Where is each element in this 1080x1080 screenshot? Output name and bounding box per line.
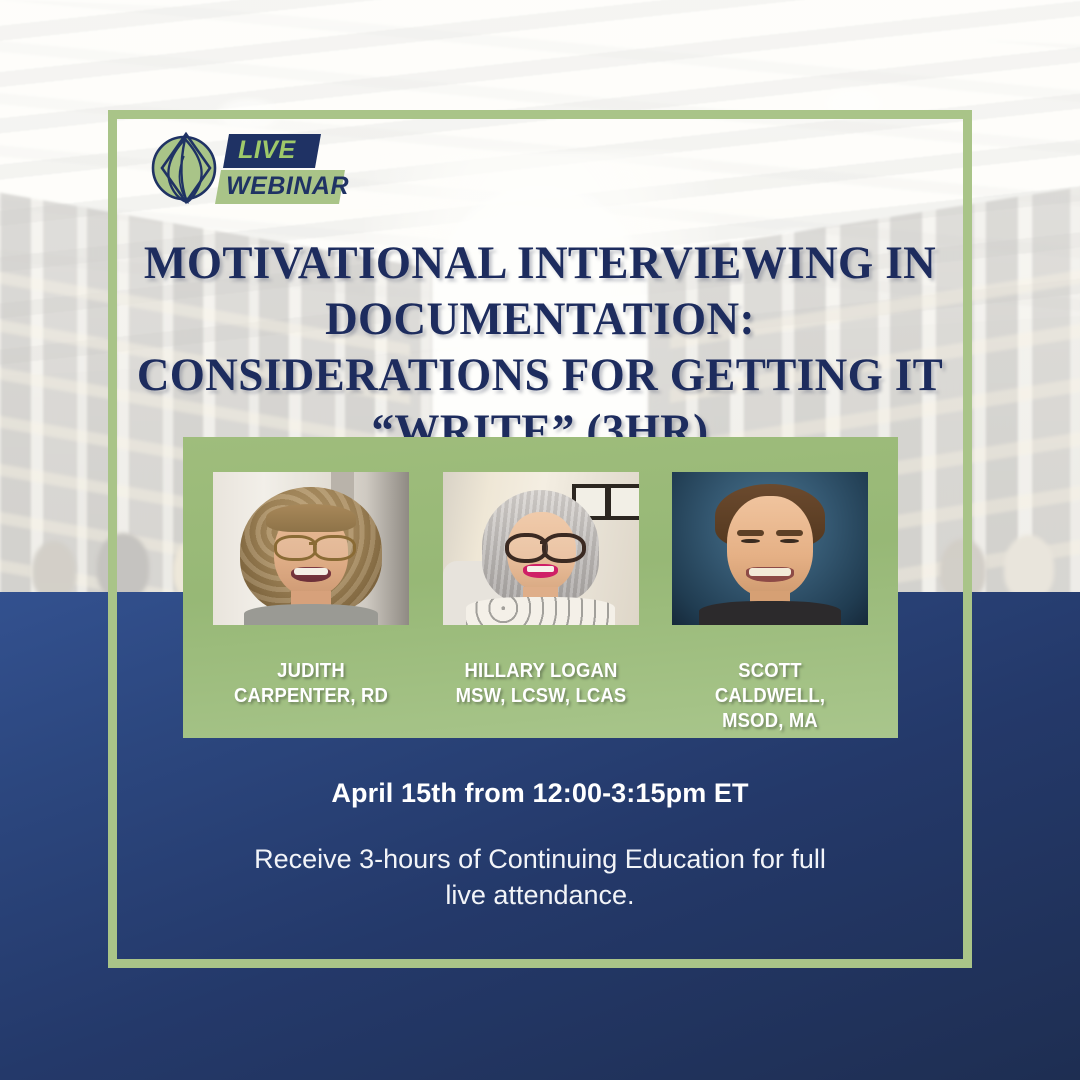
speaker-name-line2: MSW, LCSW, LCAS bbox=[452, 683, 628, 708]
event-description-line2: live attendance. bbox=[108, 878, 972, 914]
speaker-card-scott-caldwell: SCOTT CALDWELL, MSOD, MA bbox=[672, 472, 868, 734]
speaker-card-hillary-logan: HILLARY LOGAN MSW, LCSW, LCAS bbox=[443, 472, 639, 734]
headshot-scott-caldwell bbox=[672, 472, 868, 625]
speakers-panel: JUDITH CARPENTER, RD bbox=[183, 437, 898, 738]
headshot-judith-carpenter bbox=[213, 472, 409, 625]
headshot-hillary-logan bbox=[443, 472, 639, 625]
page-title: MOTIVATIONAL INTERVIEWING IN DOCUMENTATI… bbox=[125, 236, 954, 460]
logo-webinar-label: WEBINAR bbox=[215, 170, 345, 204]
speaker-name-line2: CARPENTER, RD bbox=[223, 683, 399, 708]
logo-live-label: LIVE bbox=[223, 134, 321, 168]
live-webinar-logo: LIVE WEBINAR bbox=[140, 122, 340, 214]
event-description-line1: Receive 3-hours of Continuing Education … bbox=[108, 842, 972, 878]
webinar-poster: LIVE WEBINAR MOTIVATIONAL INTERVIEWING I… bbox=[0, 0, 1080, 1080]
speaker-name: SCOTT CALDWELL, MSOD, MA bbox=[682, 658, 858, 734]
event-description: Receive 3-hours of Continuing Education … bbox=[108, 842, 972, 913]
speaker-name-line2: MSOD, MA bbox=[682, 708, 858, 733]
speaker-card-judith-carpenter: JUDITH CARPENTER, RD bbox=[213, 472, 409, 734]
speaker-name: JUDITH CARPENTER, RD bbox=[223, 658, 399, 708]
speaker-name-line1: JUDITH bbox=[223, 658, 399, 683]
speaker-name: HILLARY LOGAN MSW, LCSW, LCAS bbox=[452, 658, 628, 708]
event-date-time: April 15th from 12:00-3:15pm ET bbox=[108, 778, 972, 809]
speaker-name-line1: HILLARY LOGAN bbox=[452, 658, 628, 683]
speaker-name-line1: SCOTT CALDWELL, bbox=[682, 658, 858, 708]
